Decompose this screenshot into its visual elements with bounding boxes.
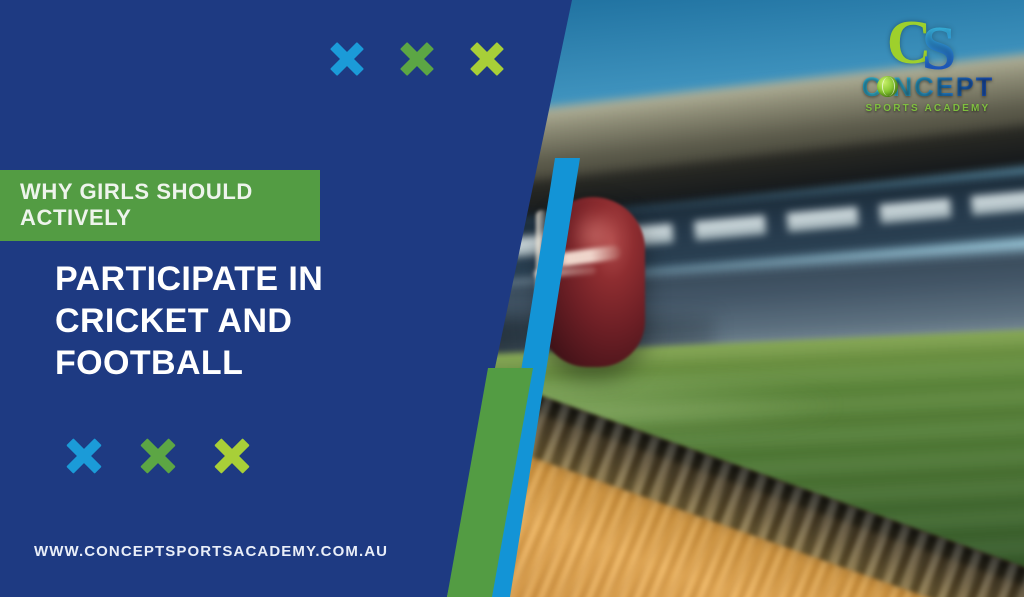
- x-mark-green-icon: [138, 436, 178, 476]
- hoarding-panel: [879, 198, 952, 223]
- promotional-banner: WHY GIRLS SHOULD ACTIVELY PARTICIPATE IN…: [0, 0, 1024, 597]
- logo-wordmark: C NCEPT: [848, 72, 1008, 102]
- x-mark-blue-icon: [328, 40, 366, 78]
- cricket-ball-icon: [877, 76, 898, 97]
- hoarding-panel: [971, 190, 1024, 215]
- hoarding-panel: [694, 215, 767, 240]
- logo-letter-s: S: [922, 20, 956, 78]
- x-mark-blue-icon: [64, 436, 104, 476]
- eyebrow-badge: WHY GIRLS SHOULD ACTIVELY: [0, 170, 320, 241]
- x-mark-yellow-green-icon: [468, 40, 506, 78]
- hoarding-panel: [787, 206, 860, 231]
- logo-monogram: C S: [848, 14, 1008, 72]
- page-title: PARTICIPATE IN CRICKET AND FOOTBALL: [55, 258, 485, 384]
- x-mark-green-icon: [398, 40, 436, 78]
- eyebrow-text: WHY GIRLS SHOULD ACTIVELY: [20, 179, 290, 231]
- x-mark-row-bottom: [64, 436, 252, 476]
- x-mark-yellow-green-icon: [212, 436, 252, 476]
- x-mark-row-top: [328, 40, 506, 78]
- logo-tagline: SPORTS ACADEMY: [848, 103, 1008, 114]
- concept-sports-academy-logo[interactable]: C S C NCEPT SPORTS ACADEMY: [848, 14, 1008, 116]
- website-url[interactable]: WWW.CONCEPTSPORTSACADEMY.COM.AU: [34, 543, 388, 560]
